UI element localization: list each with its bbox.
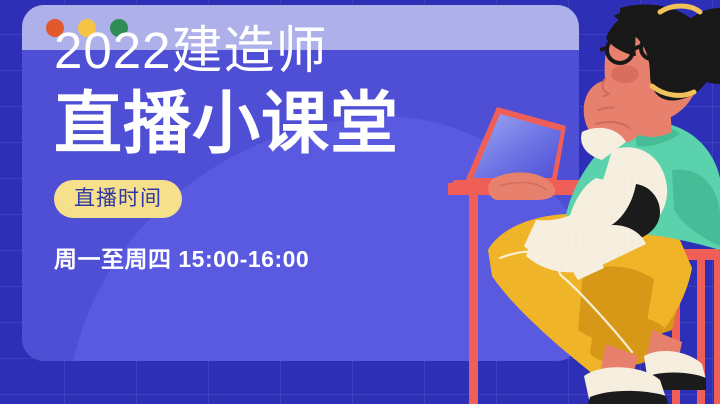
headline-subtitle: 2022建造师 (54, 25, 399, 76)
live-time-badge: 直播时间 (54, 180, 182, 218)
banner-root: 2022建造师 直播小课堂 直播时间 周一至周四 15:00-16:00 (0, 0, 720, 404)
headline-block: 2022建造师 直播小课堂 直播时间 周一至周四 15:00-16:00 (54, 25, 399, 274)
browser-window-card: 2022建造师 直播小课堂 直播时间 周一至周四 15:00-16:00 (22, 5, 579, 361)
schedule-text: 周一至周四 15:00-16:00 (54, 240, 399, 274)
headline-title: 直播小课堂 (54, 90, 399, 158)
